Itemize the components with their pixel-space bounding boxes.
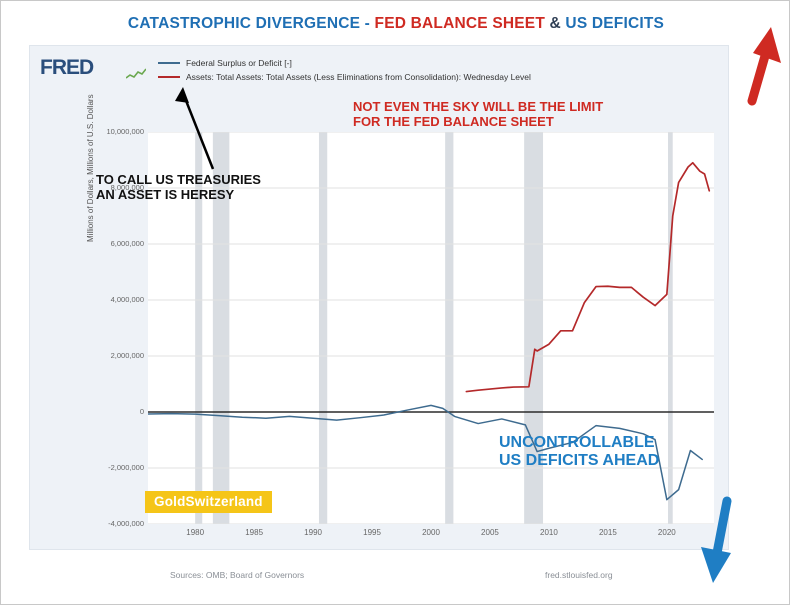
recession-band-5 — [668, 132, 673, 524]
y-tick-4: 2,000,000 — [111, 351, 144, 360]
series-line-1 — [466, 163, 709, 392]
y-tick-2: 6,000,000 — [111, 239, 144, 248]
y-tick-6: -2,000,000 — [108, 463, 144, 472]
annotation-deficits-line1: UNCONTROLLABLE — [499, 434, 659, 452]
page-title-part3: & — [545, 15, 565, 32]
legend-swatch-icon-blue — [158, 62, 180, 64]
legend-swatch-icon-red — [158, 76, 180, 78]
source-note-left: Sources: OMB; Board of Governors — [170, 570, 304, 580]
recession-band-2 — [319, 132, 327, 524]
annotation-sky-line1: NOT EVEN THE SKY WILL BE THE LIMIT — [353, 100, 603, 115]
chart-legend: Federal Surplus or Deficit [-] Assets: T… — [158, 58, 531, 86]
recession-band-3 — [445, 132, 453, 524]
legend-item-fed-assets: Assets: Total Assets: Total Assets (Less… — [158, 72, 531, 82]
screenshot-root: CATASTROPHIC DIVERGENCE - FED BALANCE SH… — [0, 0, 790, 605]
x-tick-3: 1995 — [352, 528, 392, 537]
page-title-part2: FED BALANCE SHEET — [375, 15, 545, 32]
page-title-part4: US DEFICITS — [565, 15, 664, 32]
annotation-deficits-line2: US DEFICITS AHEAD — [499, 452, 659, 470]
x-tick-8: 2020 — [647, 528, 687, 537]
x-tick-1: 1985 — [234, 528, 274, 537]
legend-label-federal-deficit: Federal Surplus or Deficit [-] — [186, 58, 292, 68]
legend-item-federal-deficit: Federal Surplus or Deficit [-] — [158, 58, 531, 68]
goldswitzerland-badge: GoldSwitzerland — [145, 491, 272, 513]
source-note-right: fred.stlouisfed.org — [545, 570, 613, 580]
y-tick-0: 10,000,000 — [106, 127, 144, 136]
fred-sparkline-icon — [126, 68, 146, 80]
page-title: CATASTROPHIC DIVERGENCE - FED BALANCE SH… — [1, 15, 790, 33]
y-tick-7: -4,000,000 — [108, 519, 144, 528]
legend-label-fed-assets: Assets: Total Assets: Total Assets (Less… — [186, 72, 531, 82]
fred-logo: FRED — [40, 56, 93, 80]
red-up-arrow-icon — [752, 27, 781, 101]
x-tick-4: 2000 — [411, 528, 451, 537]
annotation-treasuries-line2: AN ASSET IS HERESY — [96, 188, 261, 203]
annotation-sky-limit: NOT EVEN THE SKY WILL BE THE LIMIT FOR T… — [353, 100, 603, 130]
x-tick-6: 2010 — [529, 528, 569, 537]
page-title-part1: CATASTROPHIC DIVERGENCE - — [128, 15, 375, 32]
annotation-treasuries-line1: TO CALL US TREASURIES — [96, 173, 261, 188]
x-tick-5: 2005 — [470, 528, 510, 537]
x-tick-7: 2015 — [588, 528, 628, 537]
x-tick-0: 1980 — [175, 528, 215, 537]
y-tick-5: 0 — [140, 407, 144, 416]
fred-logo-text: FRED — [40, 56, 93, 79]
annotation-treasuries: TO CALL US TREASURIES AN ASSET IS HERESY — [96, 173, 261, 203]
y-tick-3: 4,000,000 — [111, 295, 144, 304]
annotation-deficits: UNCONTROLLABLE US DEFICITS AHEAD — [499, 434, 659, 471]
annotation-sky-line2: FOR THE FED BALANCE SHEET — [353, 115, 603, 130]
x-axis-ticks: 198019851990199520002005201020152020 — [148, 528, 714, 544]
x-tick-2: 1990 — [293, 528, 333, 537]
